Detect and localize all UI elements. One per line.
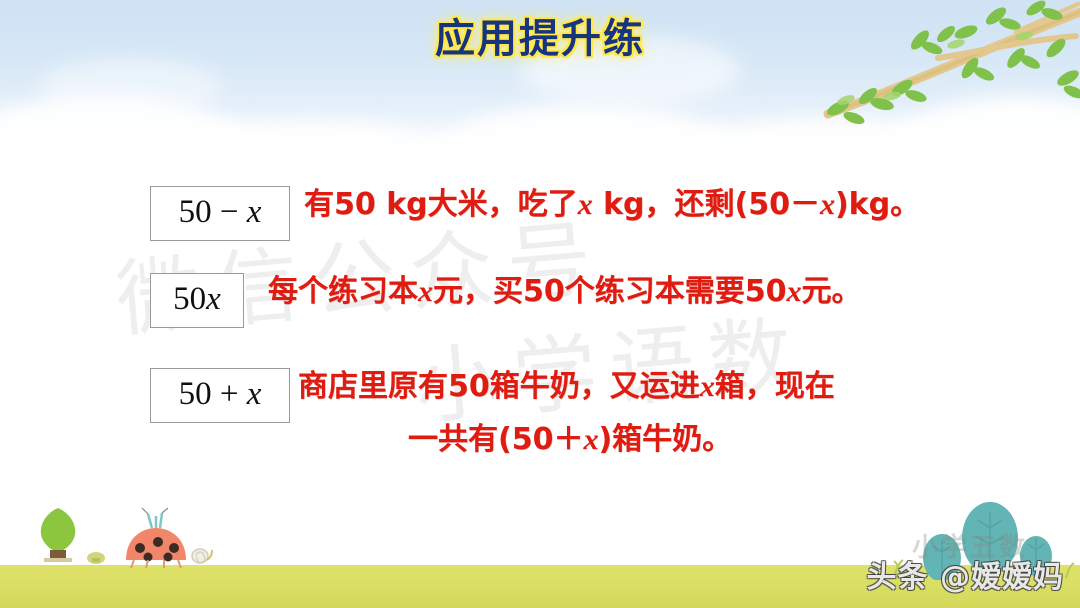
answer-row: 50 + x 商店里原有50箱牛奶，又运进x箱，现在 一共有(50＋x)箱牛奶。 xyxy=(150,366,1050,461)
title-container: 应用提升练 xyxy=(0,6,1080,64)
content-list: 50 − x 有50 kg大米，吃了x kg，还剩(50－x)kg。 50x 每… xyxy=(150,180,1050,487)
page-title: 应用提升练 xyxy=(435,6,645,64)
tree-icon xyxy=(41,508,75,562)
question-text-line-2: 一共有(50＋x)箱牛奶。 xyxy=(408,419,835,462)
author-handle-watermark: 头条 @嫒嫒妈 xyxy=(867,552,1064,596)
question-text: 每个练习本x元，买50个练习本需要50x元。 xyxy=(268,271,862,314)
bottom-left-scenery xyxy=(14,500,224,572)
answer-box[interactable]: 50x xyxy=(150,273,244,328)
question-text: 商店里原有50箱牛奶，又运进x箱，现在 一共有(50＋x)箱牛奶。 xyxy=(298,366,835,461)
slide-canvas: 应用提升练 微信公众号 小学语数 50 − x 有50 kg大米，吃了x kg，… xyxy=(0,0,1080,608)
snail-icon xyxy=(192,549,212,563)
small-rock-icon xyxy=(87,552,105,564)
answer-row: 50x 每个练习本x元，买50个练习本需要50x元。 xyxy=(150,271,1050,328)
ladybug-icon xyxy=(126,508,212,568)
question-text-line-1: 商店里原有50箱牛奶，又运进x箱，现在 xyxy=(298,369,835,404)
answer-row: 50 − x 有50 kg大米，吃了x kg，还剩(50－x)kg。 xyxy=(150,184,1050,241)
answer-box[interactable]: 50 + x xyxy=(150,368,290,423)
answer-box[interactable]: 50 − x xyxy=(150,186,290,241)
question-text: 有50 kg大米，吃了x kg，还剩(50－x)kg。 xyxy=(304,184,920,227)
